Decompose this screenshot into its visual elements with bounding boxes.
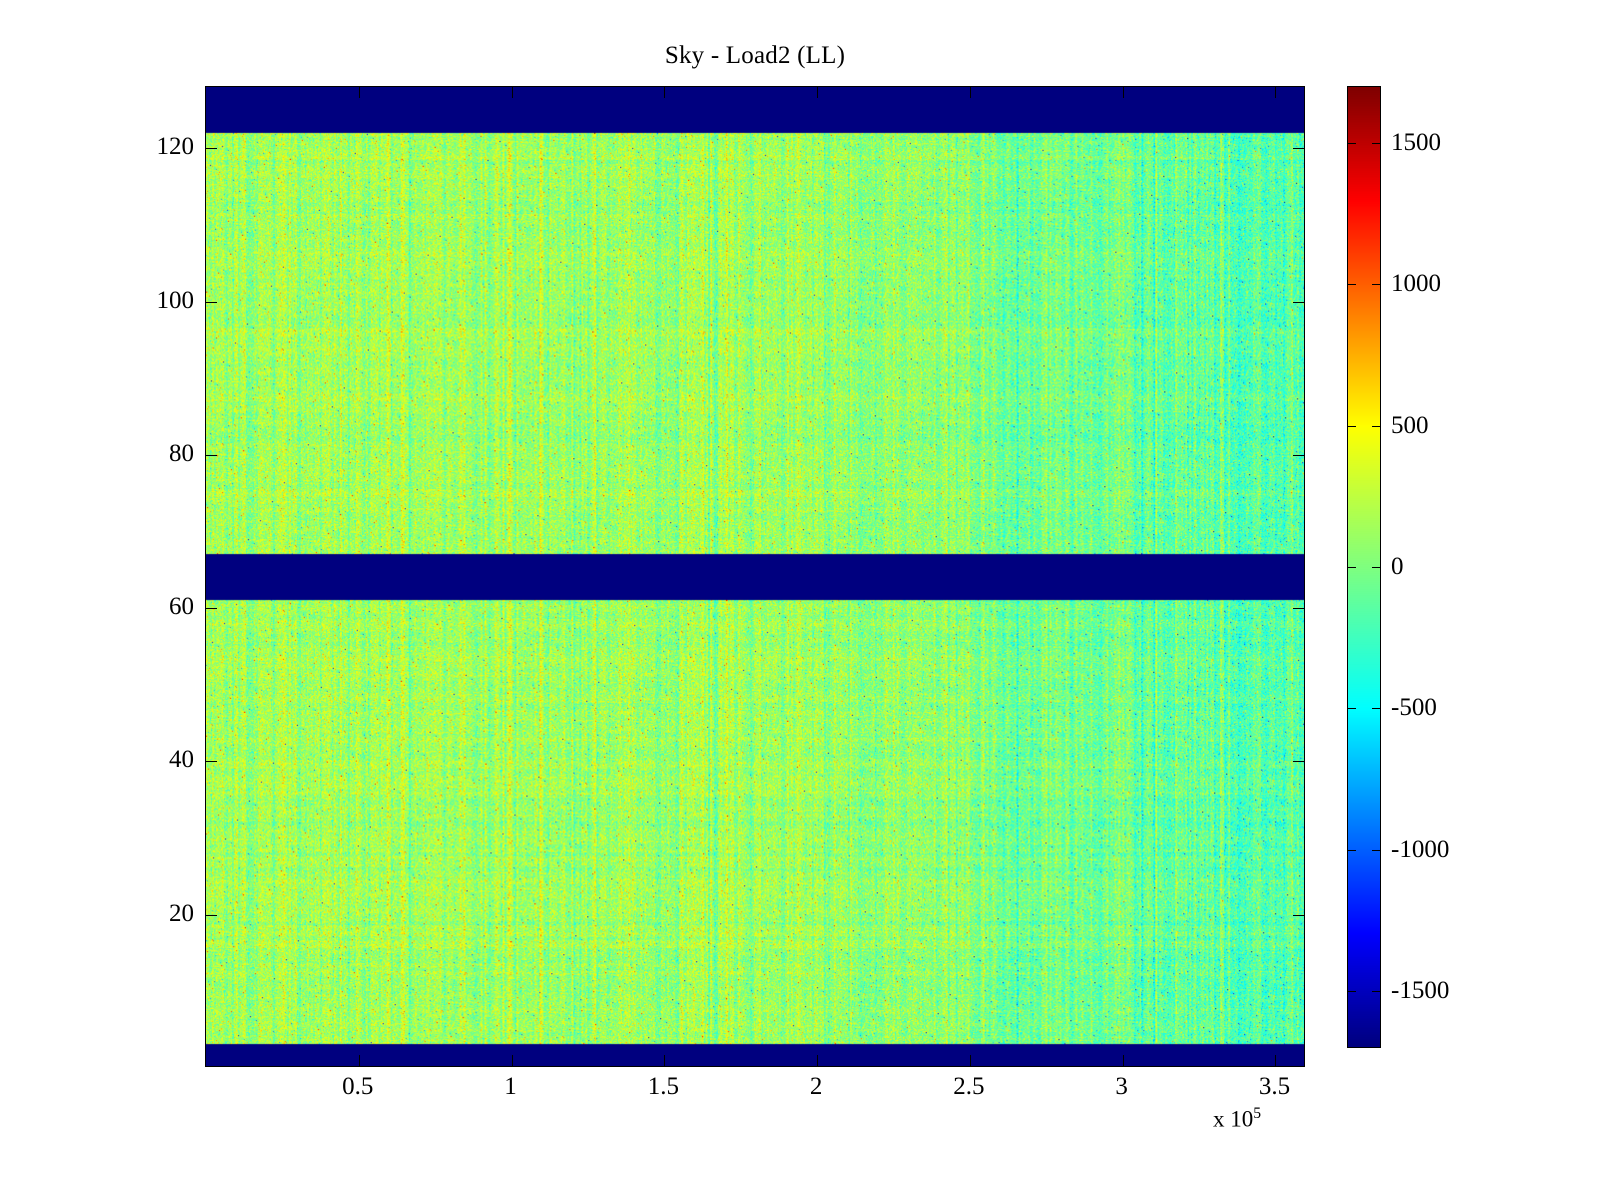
x-tick-mark <box>512 1055 513 1066</box>
x-axis-exponent-label: x 105 <box>1213 1105 1261 1133</box>
x-tick-mark-top <box>359 87 360 98</box>
figure-canvas: Sky - Load2 (LL) 20406080100120 0.511.52… <box>0 0 1600 1200</box>
x-tick-mark <box>359 1055 360 1066</box>
y-tick-label: 20 <box>169 900 194 928</box>
colorbar-tick-mark-right <box>1372 850 1381 851</box>
heatmap-axes[interactable] <box>205 86 1305 1067</box>
colorbar-tick-mark <box>1347 143 1356 144</box>
x-tick-mark <box>970 1055 971 1066</box>
colorbar-tick-mark-right <box>1372 143 1381 144</box>
colorbar-tick-label: 1000 <box>1391 270 1441 298</box>
x-tick-mark <box>817 1055 818 1066</box>
colorbar-tick-mark <box>1347 567 1356 568</box>
colorbar-tick-mark <box>1347 426 1356 427</box>
x-tick-mark-top <box>970 87 971 98</box>
x-tick-mark-top <box>1275 87 1276 98</box>
y-tick-mark <box>206 455 217 456</box>
heatmap-image <box>206 87 1304 1066</box>
x-tick-label: 2 <box>810 1073 823 1101</box>
colorbar-tick-mark <box>1347 284 1356 285</box>
y-tick-label: 60 <box>169 593 194 621</box>
y-tick-mark <box>206 608 217 609</box>
y-tick-mark <box>206 302 217 303</box>
colorbar-tick-label: -500 <box>1391 694 1437 722</box>
colorbar-container[interactable]: 150010005000-500-1000-1500 <box>1347 86 1381 1048</box>
x-tick-label: 3 <box>1115 1073 1128 1101</box>
y-tick-mark <box>206 915 217 916</box>
x-tick-mark <box>1123 1055 1124 1066</box>
colorbar-tick-mark <box>1347 850 1356 851</box>
colorbar-tick-label: 1500 <box>1391 129 1441 157</box>
y-tick-mark-right <box>1293 148 1304 149</box>
y-tick-label: 100 <box>157 287 195 315</box>
colorbar-tick-label: 0 <box>1391 553 1404 581</box>
colorbar-tick-label: 500 <box>1391 412 1429 440</box>
y-tick-mark-right <box>1293 302 1304 303</box>
x-tick-label: 0.5 <box>342 1073 373 1101</box>
chart-title: Sky - Load2 (LL) <box>0 42 1510 70</box>
y-tick-mark-right <box>1293 608 1304 609</box>
y-tick-mark <box>206 761 217 762</box>
x-tick-mark-top <box>664 87 665 98</box>
y-tick-label: 40 <box>169 746 194 774</box>
y-tick-label: 120 <box>157 133 195 161</box>
y-tick-mark-right <box>1293 455 1304 456</box>
colorbar-tick-label: -1500 <box>1391 977 1449 1005</box>
colorbar-tick-mark-right <box>1372 991 1381 992</box>
x-tick-mark-top <box>817 87 818 98</box>
colorbar-tick-mark <box>1347 991 1356 992</box>
colorbar-tick-mark-right <box>1372 426 1381 427</box>
y-tick-label: 80 <box>169 440 194 468</box>
colorbar-tick-mark-right <box>1372 708 1381 709</box>
colorbar-tick-mark-right <box>1372 567 1381 568</box>
y-tick-mark <box>206 148 217 149</box>
exponent-power: 5 <box>1253 1105 1261 1122</box>
colorbar-tick-label: -1000 <box>1391 836 1449 864</box>
x-tick-mark-top <box>1123 87 1124 98</box>
exponent-base: x 10 <box>1213 1107 1253 1132</box>
x-tick-label: 2.5 <box>953 1073 984 1101</box>
y-tick-mark-right <box>1293 761 1304 762</box>
x-tick-mark <box>664 1055 665 1066</box>
x-tick-mark-top <box>512 87 513 98</box>
colorbar-tick-mark <box>1347 708 1356 709</box>
x-tick-label: 3.5 <box>1259 1073 1290 1101</box>
colorbar-tick-mark-right <box>1372 284 1381 285</box>
x-tick-label: 1.5 <box>648 1073 679 1101</box>
y-tick-mark-right <box>1293 915 1304 916</box>
x-tick-mark <box>1275 1055 1276 1066</box>
x-tick-label: 1 <box>504 1073 517 1101</box>
